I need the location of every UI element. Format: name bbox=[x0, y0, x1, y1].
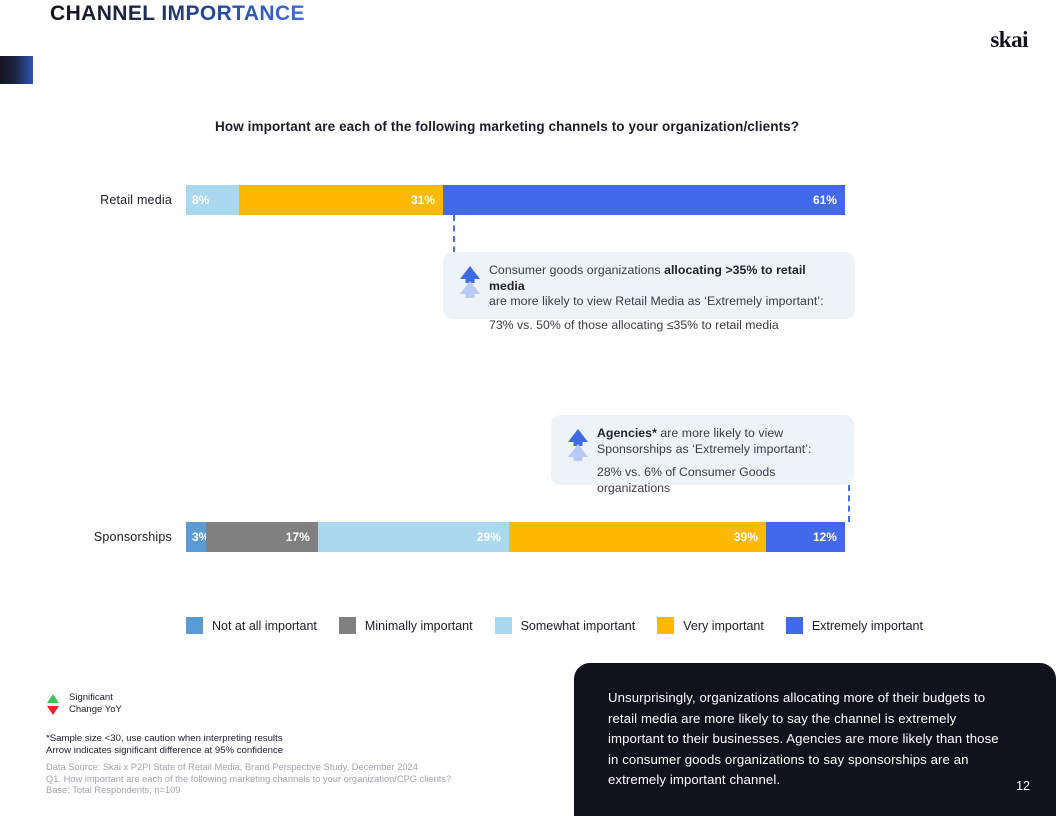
footnotes: *Sample size <30, use caution when inter… bbox=[46, 733, 283, 757]
source-line2: Q1. How important are each of the follow… bbox=[46, 774, 451, 786]
callout-retail-media-line2: are more likely to view Retail Media as … bbox=[489, 294, 843, 310]
bar-segment-somewhat-important: 8% bbox=[186, 185, 239, 215]
bar-row-retail-media: Retail media 8% 31% 61% bbox=[0, 185, 1056, 215]
source-line1: Data Source: Skai x P2PI State of Retail… bbox=[46, 762, 451, 774]
legend-swatch-very-important bbox=[657, 617, 674, 634]
legend-swatch-somewhat-important bbox=[495, 617, 512, 634]
significance-arrows-icon bbox=[46, 693, 60, 715]
bar-label-retail-media: Retail media bbox=[0, 185, 172, 215]
callout-sponsorships-line1-plain: are more likely to view bbox=[657, 426, 783, 440]
bar-segment-extremely-important: 61% bbox=[443, 185, 845, 215]
callout-retail-media: Consumer goods organizations allocating … bbox=[443, 252, 855, 319]
title-bar-left-accent bbox=[0, 56, 33, 84]
title-bar bbox=[0, 56, 1056, 84]
legend-label-very-important: Very important bbox=[683, 619, 764, 633]
bar-track-retail-media: 8% 31% 61% bbox=[186, 185, 845, 215]
legend-item-minimally-important[interactable]: Minimally important bbox=[339, 617, 473, 634]
page-title: CHANNEL IMPORTANCE bbox=[50, 0, 305, 34]
callout-sponsorships-line3: 28% vs. 6% of Consumer Goods organizatio… bbox=[597, 465, 842, 496]
bar-label-sponsorships: Sponsorships bbox=[0, 522, 172, 552]
chart-title: How important are each of the following … bbox=[215, 119, 799, 134]
legend-item-somewhat-important[interactable]: Somewhat important bbox=[495, 617, 636, 634]
skai-logo: skai bbox=[990, 28, 1028, 51]
bar-row-sponsorships: Sponsorships 3% 17% 29% 39% 12% bbox=[0, 522, 1056, 552]
callout-retail-media-body: Consumer goods organizations allocating … bbox=[489, 263, 843, 333]
significance-legend: Significant Change YoY bbox=[46, 692, 122, 715]
bar-segment-somewhat-important-2: 29% bbox=[318, 522, 509, 552]
legend-item-very-important[interactable]: Very important bbox=[657, 617, 764, 634]
significance-legend-line1: Significant bbox=[69, 692, 122, 704]
significance-legend-line2: Change YoY bbox=[69, 704, 122, 716]
legend-label-not-at-all-important: Not at all important bbox=[212, 619, 317, 633]
callout-retail-media-line3: 73% vs. 50% of those allocating ≤35% to … bbox=[489, 318, 843, 334]
bar-track-sponsorships: 3% 17% 29% 39% 12% bbox=[186, 522, 845, 552]
source-line3: Base: Total Respondents, n=109 bbox=[46, 785, 451, 797]
insight-panel: Unsurprisingly, organizations allocating… bbox=[574, 663, 1056, 816]
source-block: Data Source: Skai x P2PI State of Retail… bbox=[46, 762, 451, 797]
legend-item-not-at-all-important[interactable]: Not at all important bbox=[186, 617, 317, 634]
callout-sponsorships-line2: Sponsorships as ‘Extremely important’: bbox=[597, 442, 842, 458]
callout-retail-media-line1: Consumer goods organizations allocating … bbox=[489, 263, 843, 294]
bar-segment-minimally-important: 17% bbox=[206, 522, 318, 552]
footnote-line2: Arrow indicates significant difference a… bbox=[46, 745, 283, 757]
bar-segment-extremely-important-2: 12% bbox=[766, 522, 845, 552]
callout-retail-media-line1-plain: Consumer goods organizations bbox=[489, 263, 664, 277]
legend-label-extremely-important: Extremely important bbox=[812, 619, 923, 633]
significant-up-arrow-icon bbox=[459, 266, 481, 300]
legend-swatch-extremely-important bbox=[786, 617, 803, 634]
chart-legend: Not at all important Minimally important… bbox=[186, 617, 923, 634]
significance-legend-text: Significant Change YoY bbox=[69, 692, 122, 715]
legend-swatch-minimally-important bbox=[339, 617, 356, 634]
legend-item-extremely-important[interactable]: Extremely important bbox=[786, 617, 923, 634]
page-number: 12 bbox=[1016, 779, 1030, 793]
legend-label-somewhat-important: Somewhat important bbox=[521, 619, 636, 633]
title-bar-gradient-band bbox=[368, 56, 1056, 84]
legend-label-minimally-important: Minimally important bbox=[365, 619, 473, 633]
bar-segment-very-important: 31% bbox=[239, 185, 443, 215]
callout-sponsorships-body: Agencies* are more likely to view Sponso… bbox=[597, 426, 842, 496]
insight-text: Unsurprisingly, organizations allocating… bbox=[608, 688, 1008, 791]
bar-segment-not-at-all-important: 3% bbox=[186, 522, 206, 552]
bar-segment-very-important-2: 39% bbox=[509, 522, 766, 552]
callout-connector-sponsorships bbox=[848, 485, 850, 522]
footnote-line1: *Sample size <30, use caution when inter… bbox=[46, 733, 283, 745]
legend-swatch-not-at-all-important bbox=[186, 617, 203, 634]
callout-sponsorships-line1: Agencies* are more likely to view bbox=[597, 426, 842, 442]
significant-up-arrow-icon-2 bbox=[567, 429, 589, 463]
callout-sponsorships: Agencies* are more likely to view Sponso… bbox=[551, 415, 854, 485]
callout-sponsorships-line1-bold: Agencies* bbox=[597, 426, 657, 440]
